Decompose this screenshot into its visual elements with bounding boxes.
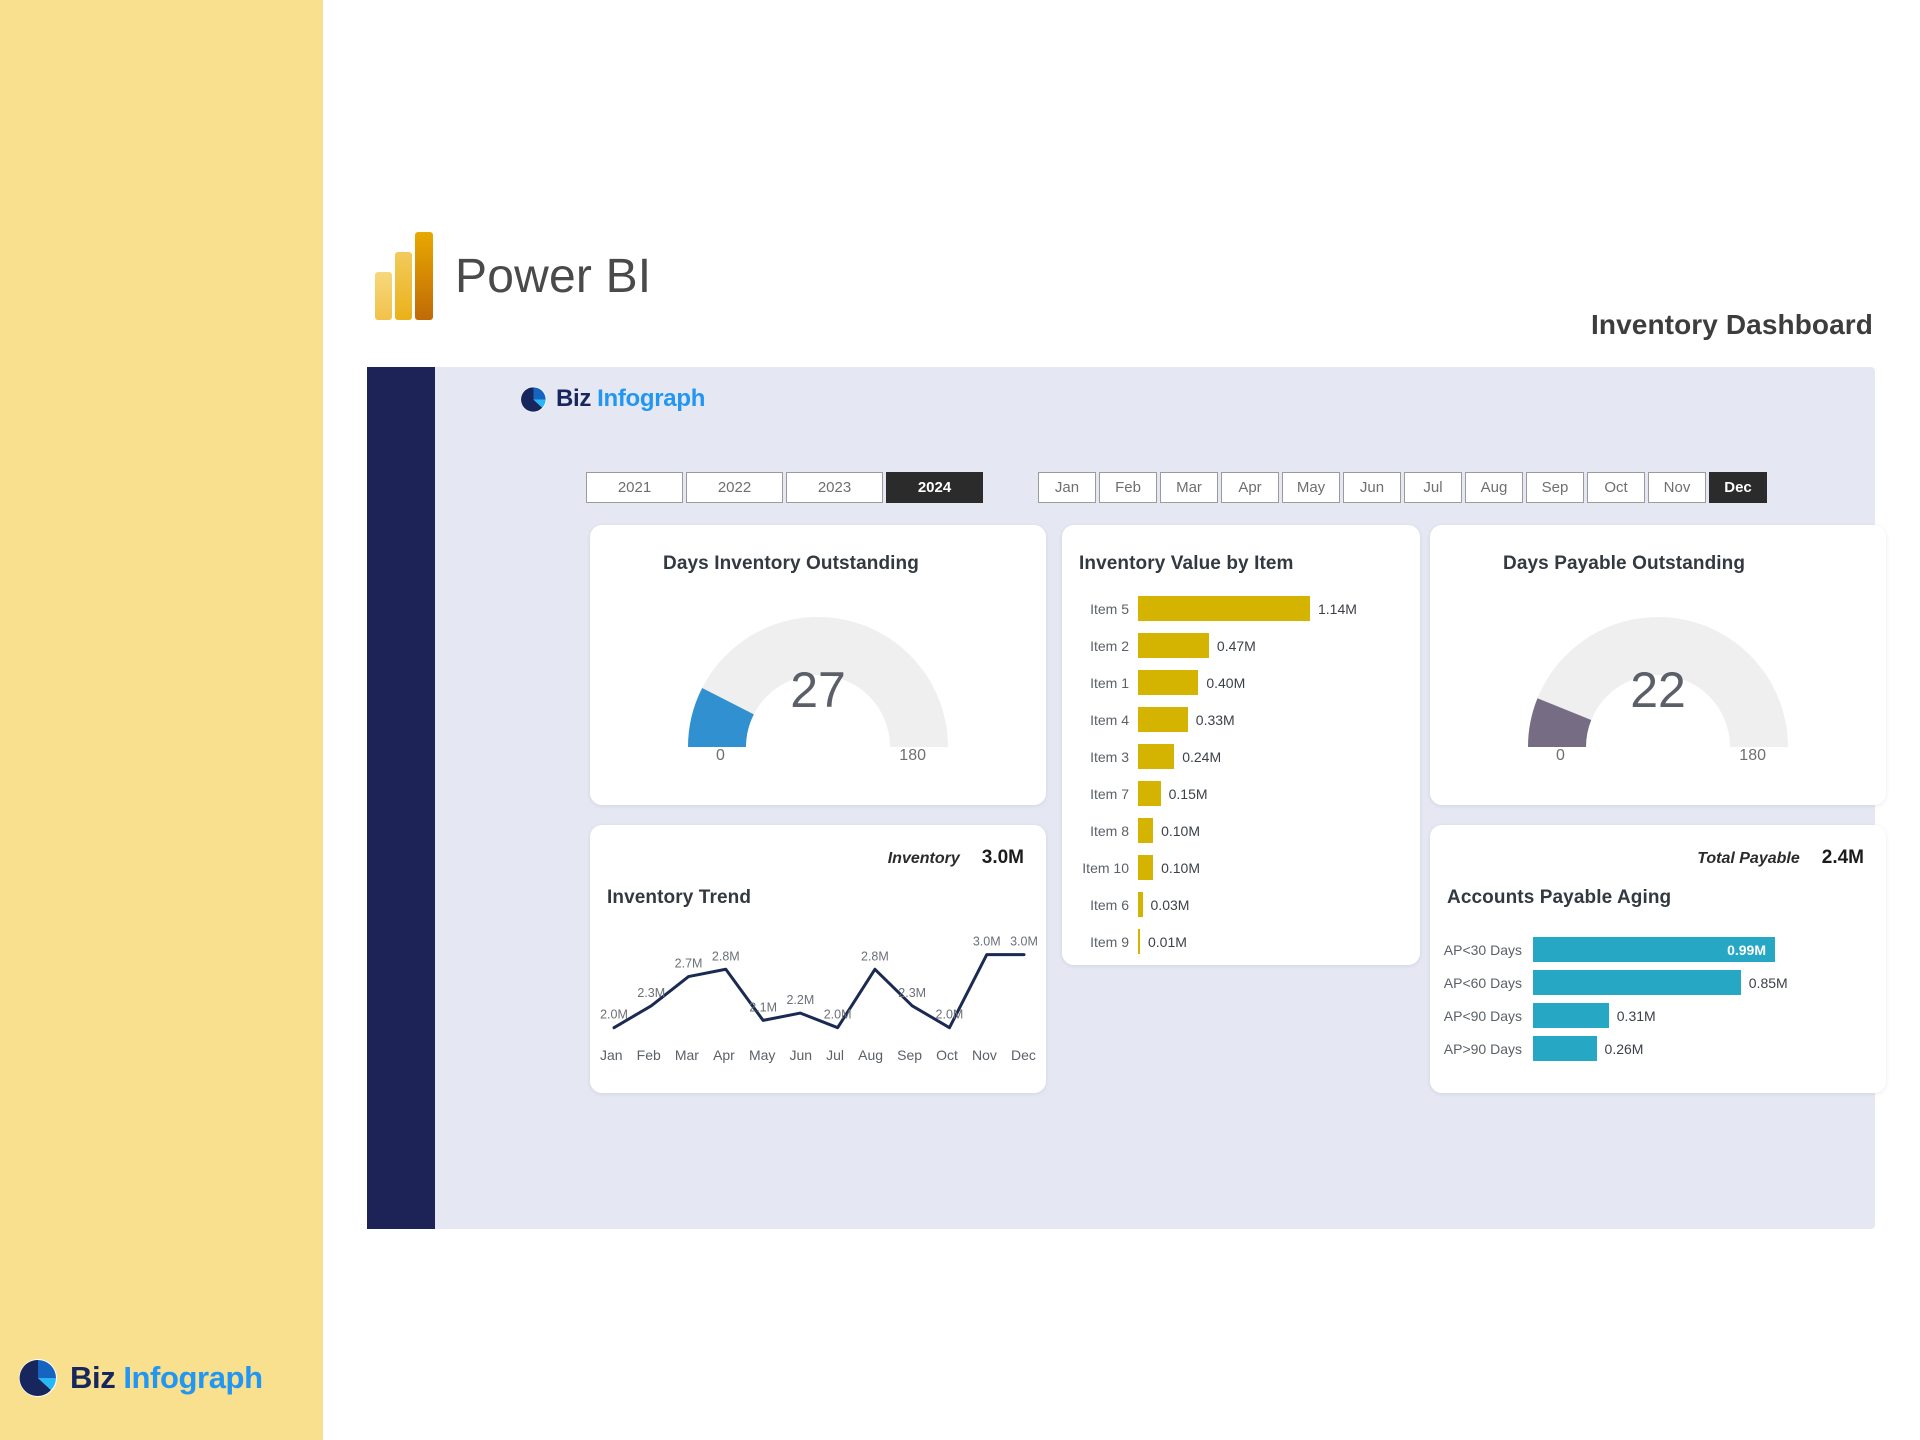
bar-category-label: AP<60 Days	[1430, 975, 1533, 991]
trend-point-label: 2.8M	[712, 949, 740, 963]
trend-point-label: 2.1M	[749, 1000, 777, 1014]
card-title: Inventory Value by Item	[1079, 553, 1294, 575]
card-title: Accounts Payable Aging	[1447, 887, 1671, 909]
gauge-max-label: 180	[1739, 747, 1766, 765]
gauge-value: 22	[1430, 661, 1886, 719]
page-title: Inventory Dashboard	[1591, 309, 1873, 341]
card-days-inventory-outstanding: Days Inventory Outstanding 27 0 180	[590, 525, 1046, 805]
slicer-month-jul[interactable]: Jul	[1404, 472, 1462, 503]
trend-point-label: 2.7M	[675, 957, 703, 971]
brand-biz-text: Biz	[70, 1360, 115, 1395]
bar-row: Item 70.15M	[1062, 775, 1420, 812]
gauge-value: 27	[590, 661, 1046, 719]
card-title: Days Inventory Outstanding	[663, 553, 919, 575]
slicer-month-may[interactable]: May	[1282, 472, 1340, 503]
total-payable-kpi: Total Payable 2.4M	[1697, 847, 1864, 869]
bar-row: Item 60.03M	[1062, 886, 1420, 923]
card-days-payable-outstanding: Days Payable Outstanding 22 0 180	[1430, 525, 1886, 805]
card-title: Days Payable Outstanding	[1503, 553, 1745, 575]
bar-category-label: AP<90 Days	[1430, 1008, 1533, 1024]
bar-rect[interactable]	[1138, 929, 1140, 954]
bar-rect[interactable]	[1138, 744, 1174, 769]
bar-category-label: Item 6	[1062, 897, 1138, 913]
bar-row: Item 20.47M	[1062, 627, 1420, 664]
slicer-month-dec[interactable]: Dec	[1709, 472, 1767, 503]
year-slicer-group: 2021202220232024	[586, 472, 986, 503]
trend-point-label: 3.0M	[973, 935, 1001, 949]
axis-tick-label: Jul	[826, 1047, 844, 1063]
trend-point-label: 2.8M	[861, 949, 889, 963]
brand-biz-text: Biz	[556, 385, 591, 412]
slicer-year-2022[interactable]: 2022	[686, 472, 783, 503]
slicer-month-mar[interactable]: Mar	[1160, 472, 1218, 503]
axis-tick-label: May	[749, 1047, 775, 1063]
slicer-month-feb[interactable]: Feb	[1099, 472, 1157, 503]
slicer-month-apr[interactable]: Apr	[1221, 472, 1279, 503]
bar-value-label: 0.26M	[1605, 1041, 1644, 1057]
bar-value-label: 0.40M	[1206, 675, 1245, 691]
inventory-value-bar-chart: Item 51.14MItem 20.47MItem 10.40MItem 40…	[1062, 590, 1420, 960]
bar-rect[interactable]	[1138, 855, 1153, 880]
gauge-days-inventory-outstanding: 27 0 180	[590, 587, 1046, 767]
slicer-month-jan[interactable]: Jan	[1038, 472, 1096, 503]
axis-tick-label: Mar	[675, 1047, 699, 1063]
slicer-year-2023[interactable]: 2023	[786, 472, 883, 503]
card-inventory-trend: Inventory 3.0M Inventory Trend 2.0M2.3M2…	[590, 825, 1046, 1093]
bar-value-label: 0.15M	[1169, 786, 1208, 802]
bar-value-label: 0.47M	[1217, 638, 1256, 654]
trend-svg: 2.0M2.3M2.7M2.8M2.1M2.2M2.0M2.8M2.3M2.0M…	[590, 917, 1046, 1047]
bar-rect[interactable]	[1533, 1003, 1609, 1028]
biz-infograph-logo-header: BizInfograph	[520, 385, 705, 413]
app-name-label: Power BI	[455, 249, 651, 304]
bar-category-label: Item 3	[1062, 749, 1138, 765]
dashboard-canvas: BizInfograph 2021202220232024 JanFebMarA…	[367, 367, 1875, 1229]
bar-rect[interactable]	[1138, 633, 1209, 658]
slicer-month-oct[interactable]: Oct	[1587, 472, 1645, 503]
bar-value-label: 0.01M	[1148, 934, 1187, 950]
kpi-value: 2.4M	[1822, 847, 1864, 869]
trend-point-label: 2.0M	[600, 1008, 628, 1022]
bar-value-label: 0.03M	[1151, 897, 1190, 913]
card-inventory-value-by-item: Inventory Value by Item Item 51.14MItem …	[1062, 525, 1420, 965]
bar-category-label: Item 1	[1062, 675, 1138, 691]
ap-aging-bar-chart: AP<30 Days0.99MAP<60 Days0.85MAP<90 Days…	[1430, 933, 1886, 1065]
slicer-month-nov[interactable]: Nov	[1648, 472, 1706, 503]
brand-infograph-text: Infograph	[123, 1360, 262, 1395]
trend-point-label: 2.3M	[637, 986, 665, 1000]
bar-rect[interactable]	[1138, 818, 1153, 843]
bar-category-label: Item 5	[1062, 601, 1138, 617]
trend-point-label: 2.2M	[786, 993, 814, 1007]
bar-rect[interactable]	[1138, 707, 1188, 732]
trend-point-label: 2.0M	[824, 1008, 852, 1022]
axis-tick-label: Aug	[858, 1047, 883, 1063]
card-accounts-payable-aging: Total Payable 2.4M Accounts Payable Agin…	[1430, 825, 1886, 1093]
bar-value-label: 0.24M	[1182, 749, 1221, 765]
trend-point-label: 2.3M	[898, 986, 926, 1000]
axis-tick-label: Jun	[789, 1047, 812, 1063]
bar-category-label: Item 8	[1062, 823, 1138, 839]
axis-tick-label: Jan	[600, 1047, 623, 1063]
inventory-trend-line-chart: 2.0M2.3M2.7M2.8M2.1M2.2M2.0M2.8M2.3M2.0M…	[590, 917, 1046, 1047]
bar-row: Item 30.24M	[1062, 738, 1420, 775]
slicer-year-2024[interactable]: 2024	[886, 472, 983, 503]
gauge-min-label: 0	[716, 747, 725, 765]
bar-row: AP<30 Days0.99M	[1430, 933, 1886, 966]
kpi-value: 3.0M	[982, 847, 1024, 869]
slicer-month-jun[interactable]: Jun	[1343, 472, 1401, 503]
bar-row: AP<60 Days0.85M	[1430, 966, 1886, 999]
gauge-min-label: 0	[1556, 747, 1565, 765]
bar-row: Item 90.01M	[1062, 923, 1420, 960]
axis-tick-label: Dec	[1011, 1047, 1036, 1063]
brand-wordmark: BizInfograph	[70, 1360, 263, 1396]
bar-value-label: 0.31M	[1617, 1008, 1656, 1024]
slicer-year-2021[interactable]: 2021	[586, 472, 683, 503]
power-bi-logo-icon	[375, 232, 433, 320]
bar-rect[interactable]	[1138, 892, 1143, 917]
bar-value-label: 0.85M	[1749, 975, 1788, 991]
pie-chart-logo-icon	[520, 386, 547, 413]
trend-x-axis: JanFebMarAprMayJunJulAugSepOctNovDec	[600, 1047, 1036, 1063]
dashboard-sidebar	[367, 367, 435, 1229]
bar-rect[interactable]: 0.99M	[1533, 937, 1775, 962]
bar-value-label: 1.14M	[1318, 601, 1357, 617]
trend-point-label: 3.0M	[1010, 935, 1038, 949]
axis-tick-label: Nov	[972, 1047, 997, 1063]
slicer-month-sep[interactable]: Sep	[1526, 472, 1584, 503]
pie-chart-logo-icon	[18, 1358, 58, 1398]
inventory-kpi: Inventory 3.0M	[888, 847, 1024, 869]
powerbi-header: Power BI	[375, 232, 651, 320]
axis-tick-label: Oct	[936, 1047, 958, 1063]
bar-row: Item 80.10M	[1062, 812, 1420, 849]
left-accent-band	[0, 0, 323, 1440]
bar-rect[interactable]	[1533, 1036, 1597, 1061]
bar-category-label: Item 10	[1062, 860, 1138, 876]
gauge-days-payable-outstanding: 22 0 180	[1430, 587, 1886, 767]
bar-category-label: AP<30 Days	[1430, 942, 1533, 958]
bar-rect[interactable]	[1138, 670, 1198, 695]
bar-category-label: Item 4	[1062, 712, 1138, 728]
bar-category-label: Item 9	[1062, 934, 1138, 950]
bar-rect[interactable]	[1138, 781, 1161, 806]
bar-row: Item 100.10M	[1062, 849, 1420, 886]
slicer-month-aug[interactable]: Aug	[1465, 472, 1523, 503]
bar-value-label: 0.10M	[1161, 860, 1200, 876]
bar-rect[interactable]	[1533, 970, 1741, 995]
axis-tick-label: Apr	[713, 1047, 735, 1063]
dashboard-content: BizInfograph 2021202220232024 JanFebMarA…	[435, 367, 1875, 1229]
bar-value-label: 0.99M	[1727, 942, 1775, 958]
bar-row: Item 10.40M	[1062, 664, 1420, 701]
kpi-label: Inventory	[888, 850, 960, 868]
bar-row: AP<90 Days0.31M	[1430, 999, 1886, 1032]
axis-tick-label: Feb	[637, 1047, 661, 1063]
biz-infograph-logo-footer: BizInfograph	[18, 1358, 263, 1398]
bar-value-label: 0.33M	[1196, 712, 1235, 728]
axis-tick-label: Sep	[897, 1047, 922, 1063]
month-slicer-group: JanFebMarAprMayJunJulAugSepOctNovDec	[1038, 472, 1770, 503]
brand-infograph-text: Infograph	[597, 385, 705, 412]
brand-wordmark: BizInfograph	[556, 385, 705, 413]
bar-row: Item 40.33M	[1062, 701, 1420, 738]
kpi-label: Total Payable	[1697, 850, 1800, 868]
bar-row: AP>90 Days0.26M	[1430, 1032, 1886, 1065]
filter-slicers: 2021202220232024 JanFebMarAprMayJunJulAu…	[586, 472, 1770, 503]
gauge-max-label: 180	[899, 747, 926, 765]
bar-category-label: Item 2	[1062, 638, 1138, 654]
bar-category-label: AP>90 Days	[1430, 1041, 1533, 1057]
bar-category-label: Item 7	[1062, 786, 1138, 802]
trend-point-label: 2.0M	[936, 1008, 964, 1022]
bar-value-label: 0.10M	[1161, 823, 1200, 839]
bar-rect[interactable]	[1138, 596, 1310, 621]
bar-row: Item 51.14M	[1062, 590, 1420, 627]
card-title: Inventory Trend	[607, 887, 751, 909]
